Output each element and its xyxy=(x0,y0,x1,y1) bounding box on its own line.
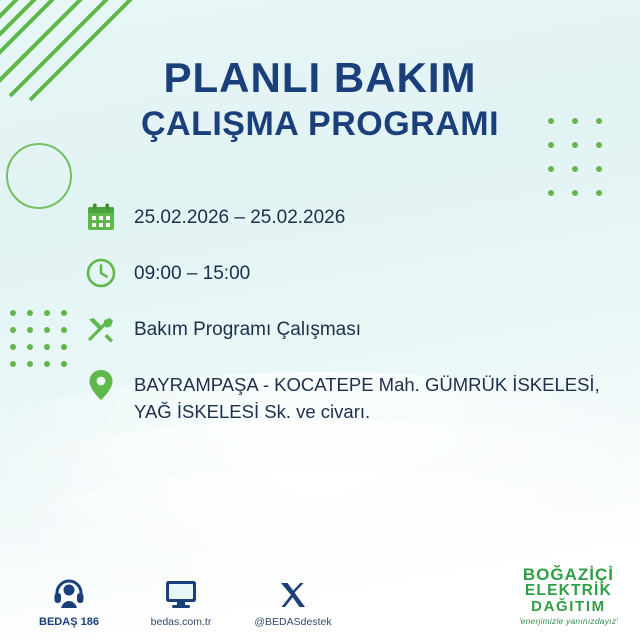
info-list: 25.02.2026 – 25.02.2026 09:00 – 15:00 xyxy=(84,200,614,448)
footer: BEDAŞ 186 bedas.com.tr xyxy=(0,548,640,640)
footer-item-social[interactable]: @BEDASdestek xyxy=(250,574,336,628)
clock-icon xyxy=(84,256,118,290)
footer-item-phone-label: BEDAŞ 186 xyxy=(39,616,99,628)
brand-line-3: DAĞITIM xyxy=(519,599,618,614)
monitor-icon xyxy=(164,574,198,610)
calendar-icon xyxy=(84,200,118,234)
poster-root: PLANLI BAKIM ÇALIŞMA PROGRAMI xyxy=(0,0,640,640)
brand-slogan: 'enerjimizle yanınızdayız' xyxy=(519,617,618,626)
page-title: PLANLI BAKIM ÇALIŞMA PROGRAMI xyxy=(0,56,640,143)
info-row-date-text: 25.02.2026 – 25.02.2026 xyxy=(134,200,345,232)
footer-item-social-label: @BEDASdestek xyxy=(254,616,331,628)
brand-line-1: BOĞAZİÇİ xyxy=(519,566,618,583)
title-main: PLANLI BAKIM xyxy=(0,56,640,100)
footer-item-website-label: bedas.com.tr xyxy=(151,616,212,628)
info-row-worktype-text: Bakım Programı Çalışması xyxy=(134,312,361,344)
location-pin-icon xyxy=(84,368,118,402)
info-row-location: BAYRAMPAŞA - KOCATEPE Mah. GÜMRÜK İSKELE… xyxy=(84,368,614,426)
info-row-location-text: BAYRAMPAŞA - KOCATEPE Mah. GÜMRÜK İSKELE… xyxy=(134,368,614,426)
info-row-worktype: Bakım Programı Çalışması xyxy=(84,312,614,346)
title-sub: ÇALIŞMA PROGRAMI xyxy=(0,106,640,143)
info-row-time-text: 09:00 – 15:00 xyxy=(134,256,250,288)
circle-outline-decoration xyxy=(6,143,72,209)
footer-item-phone[interactable]: BEDAŞ 186 xyxy=(26,574,112,628)
x-social-icon xyxy=(278,574,308,610)
headset-support-icon xyxy=(52,574,86,610)
dot-grid-left-decoration xyxy=(10,310,78,378)
brand-line-2: ELEKTRİK xyxy=(519,583,618,599)
info-row-time: 09:00 – 15:00 xyxy=(84,256,614,290)
tools-icon xyxy=(84,312,118,346)
footer-item-website[interactable]: bedas.com.tr xyxy=(138,574,224,628)
footer-contact-items: BEDAŞ 186 bedas.com.tr xyxy=(26,574,336,628)
info-row-date: 25.02.2026 – 25.02.2026 xyxy=(84,200,614,234)
brand-logo: BOĞAZİÇİ ELEKTRİK DAĞITIM 'enerjimizle y… xyxy=(519,566,618,626)
